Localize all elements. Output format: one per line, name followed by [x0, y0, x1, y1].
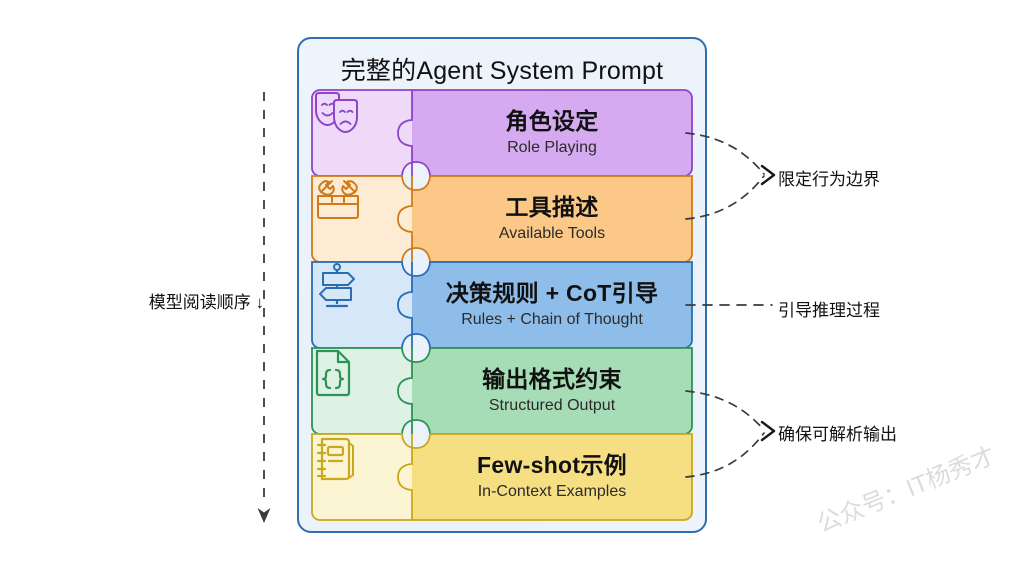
diagram-canvas: 完整的Agent System Prompt 模型阅读顺序 ↓ — [0, 0, 1024, 559]
annotation-label-3: 确保可解析输出 — [778, 420, 897, 445]
puzzle-stack: 角色设定 Role Playing — [312, 90, 692, 520]
puzzle-piece-structured-output[interactable]: 输出格式约束 Structured Output — [312, 348, 692, 434]
puzzle-piece-rules-cot[interactable]: 决策规则 + CoT引导 Rules + Chain of Thought — [312, 262, 692, 348]
puzzle-piece-role-playing[interactable]: 角色设定 Role Playing — [312, 90, 692, 176]
puzzle-piece-available-tools[interactable]: 工具描述 Available Tools — [312, 176, 692, 262]
annotation-connector-3 — [686, 0, 786, 559]
page-title: 完整的Agent System Prompt — [297, 48, 707, 90]
annotation-label-2: 引导推理过程 — [778, 296, 880, 321]
annotation-label-1: 限定行为边界 — [778, 165, 880, 190]
puzzle-piece-few-shot[interactable]: Few-shot示例 In-Context Examples — [312, 434, 692, 520]
reading-order-label: 模型阅读顺序 ↓ — [104, 288, 264, 314]
